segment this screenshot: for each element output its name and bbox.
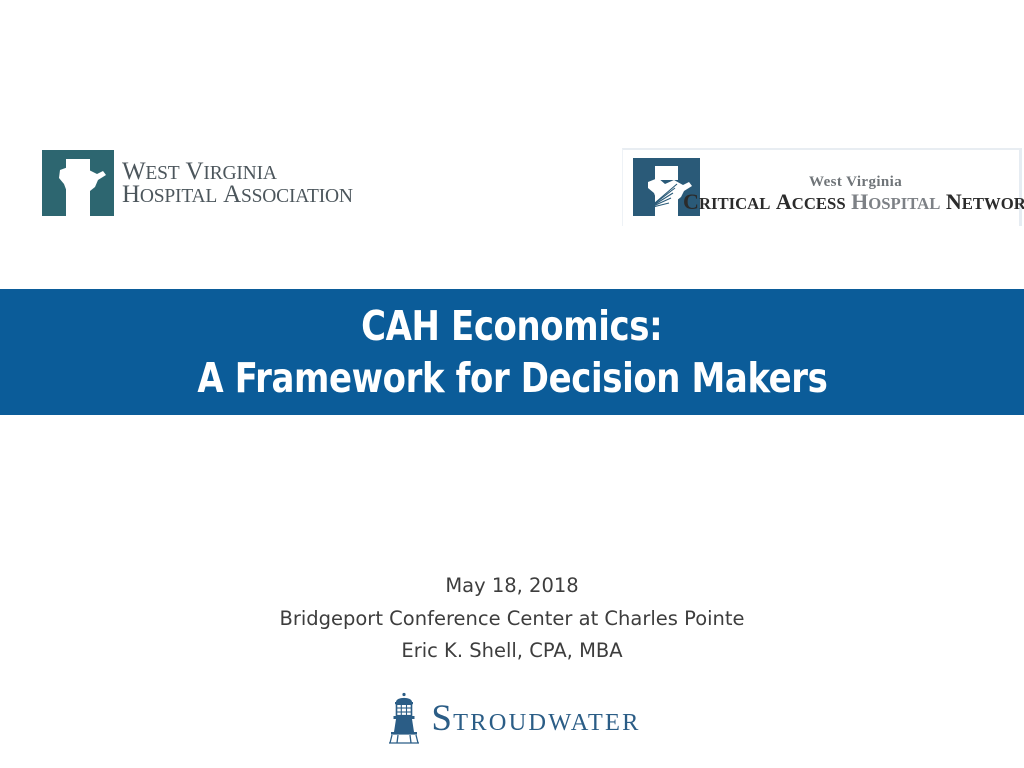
event-venue: Bridgeport Conference Center at Charles … — [0, 603, 1024, 636]
wvha-wordmark: WEST VIRGINIA HOSPITAL ASSOCIATION — [122, 160, 353, 207]
lighthouse-icon — [383, 690, 425, 746]
slide-canvas: WEST VIRGINIA HOSPITAL ASSOCIATION West — [0, 0, 1024, 768]
wvha-h-state-mark-icon — [40, 147, 116, 219]
wvha-logo: WEST VIRGINIA HOSPITAL ASSOCIATION — [40, 143, 360, 223]
stroudwater-logo: STROUDWATER — [0, 690, 1024, 746]
wvha-wordmark-line2: HOSPITAL ASSOCIATION — [122, 183, 353, 206]
cahn-logo: West Virginia CRITICAL ACCESS HOSPITAL N… — [622, 148, 1022, 226]
title-banner: CAH Economics: A Framework for Decision … — [0, 289, 1024, 415]
event-details: May 18, 2018 Bridgeport Conference Cente… — [0, 570, 1024, 668]
title-line-1: CAH Economics: — [361, 300, 662, 352]
wvha-wordmark-line1: WEST VIRGINIA — [122, 160, 353, 183]
title-line-2: A Framework for Decision Makers — [197, 352, 827, 404]
cahn-wordmark: CRITICAL ACCESS HOSPITAL NETWORK — [683, 189, 1024, 215]
stroudwater-wordmark: STROUDWATER — [431, 700, 640, 737]
event-date: May 18, 2018 — [0, 570, 1024, 603]
presenter-name: Eric K. Shell, CPA, MBA — [0, 635, 1024, 668]
